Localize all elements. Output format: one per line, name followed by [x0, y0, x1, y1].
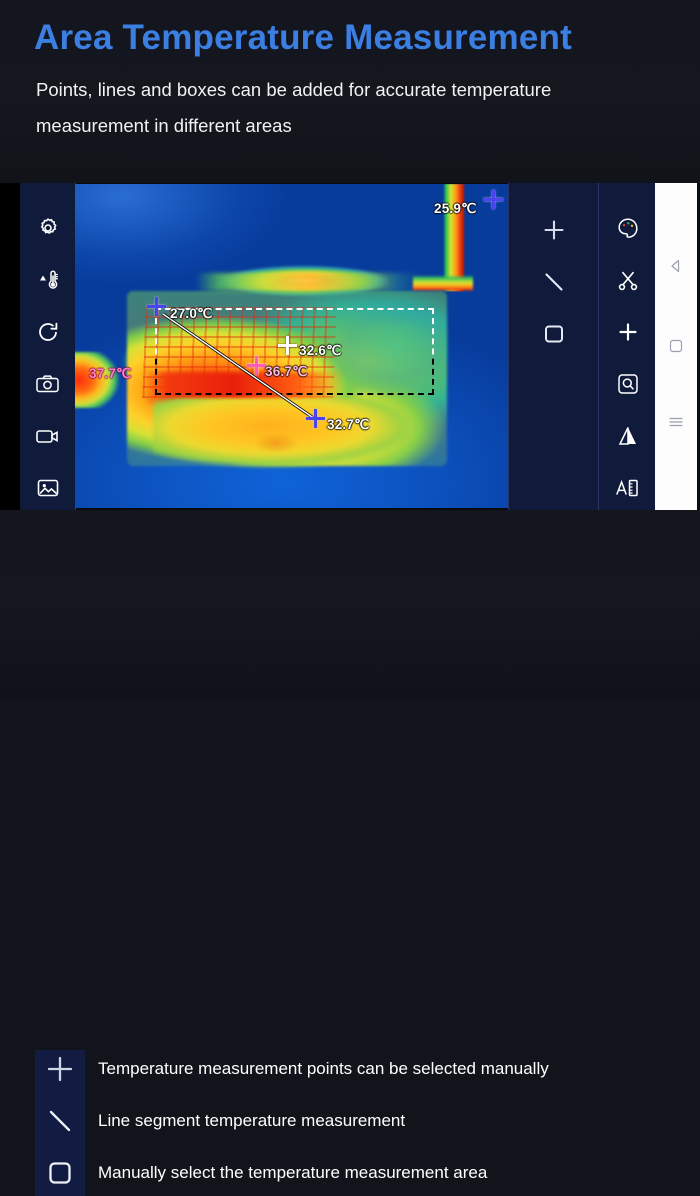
marker-cross-hot-point[interactable] [247, 356, 266, 375]
legend-item-point: Temperature measurement points can be se… [36, 1046, 666, 1092]
android-recents-icon[interactable] [665, 411, 687, 433]
measurement-toolbar [508, 183, 599, 510]
page-subtitle: Points, lines and boxes can be added for… [36, 72, 662, 144]
thermal-screen-edge-bar-2 [413, 275, 474, 291]
gallery-icon[interactable] [33, 473, 63, 503]
line-measure-icon[interactable] [539, 267, 569, 297]
label-reading-box-corner: 27.0℃ [170, 306, 212, 322]
point-measure-icon [36, 1046, 84, 1092]
magnifier-icon[interactable] [613, 369, 643, 399]
label-reading-line-end: 32.7℃ [327, 417, 369, 433]
settings-icon[interactable] [33, 213, 63, 243]
plus-icon[interactable] [613, 317, 643, 347]
line-measure-icon [36, 1098, 84, 1144]
marker-cross-white-point[interactable] [278, 336, 297, 355]
device-screen: 25.9℃ 27.0℃ 32.6℃ 36.7℃ 32.7℃ 37.7℃ [0, 183, 700, 510]
page-title: Area Temperature Measurement [34, 16, 674, 60]
android-home-icon[interactable] [665, 335, 687, 357]
left-toolbar [20, 183, 76, 510]
area-measure-icon[interactable] [539, 319, 569, 349]
right-toolbar [598, 183, 656, 510]
video-icon[interactable] [33, 421, 63, 451]
android-nav-bar [655, 183, 697, 510]
label-reading-left-edge: 37.7℃ [89, 366, 131, 382]
screen-bezel-left [0, 183, 20, 510]
promo-page: Area Temperature Measurement Points, lin… [0, 0, 700, 700]
legend-item-area: Manually select the temperature measurem… [36, 1150, 666, 1196]
label-reading-top-right: 25.9℃ [434, 201, 476, 217]
legend-item-line: Line segment temperature measurement [36, 1098, 666, 1144]
label-reading-hot-point: 36.7℃ [265, 364, 307, 380]
marker-cross-top-right[interactable] [484, 190, 503, 209]
mirror-flip-icon[interactable] [613, 421, 643, 451]
camera-icon[interactable] [33, 369, 63, 399]
legend-section: Temperature measurement points can be se… [0, 510, 700, 700]
thermal-hinge-glow [196, 273, 421, 291]
thermal-image[interactable]: 25.9℃ 27.0℃ 32.6℃ 36.7℃ 32.7℃ 37.7℃ [75, 184, 508, 508]
legend-text-point: Temperature measurement points can be se… [98, 1046, 549, 1092]
legend-text-area: Manually select the temperature measurem… [98, 1150, 487, 1196]
scissors-icon[interactable] [613, 265, 643, 295]
header-section: Area Temperature Measurement Points, lin… [0, 0, 700, 180]
marker-cross-line-end[interactable] [306, 409, 325, 428]
point-measure-icon[interactable] [539, 215, 569, 245]
temperature-alarm-icon[interactable] [33, 265, 63, 295]
marker-cross-box-corner[interactable] [147, 297, 166, 316]
refresh-icon[interactable] [33, 317, 63, 347]
label-reading-white-point: 32.6℃ [299, 343, 341, 359]
area-measure-icon [36, 1150, 84, 1196]
text-ruler-icon[interactable] [613, 473, 643, 503]
palette-icon[interactable] [613, 213, 643, 243]
legend-text-line: Line segment temperature measurement [98, 1098, 405, 1144]
android-back-icon[interactable] [665, 255, 687, 277]
thermal-trackpad [248, 430, 304, 456]
